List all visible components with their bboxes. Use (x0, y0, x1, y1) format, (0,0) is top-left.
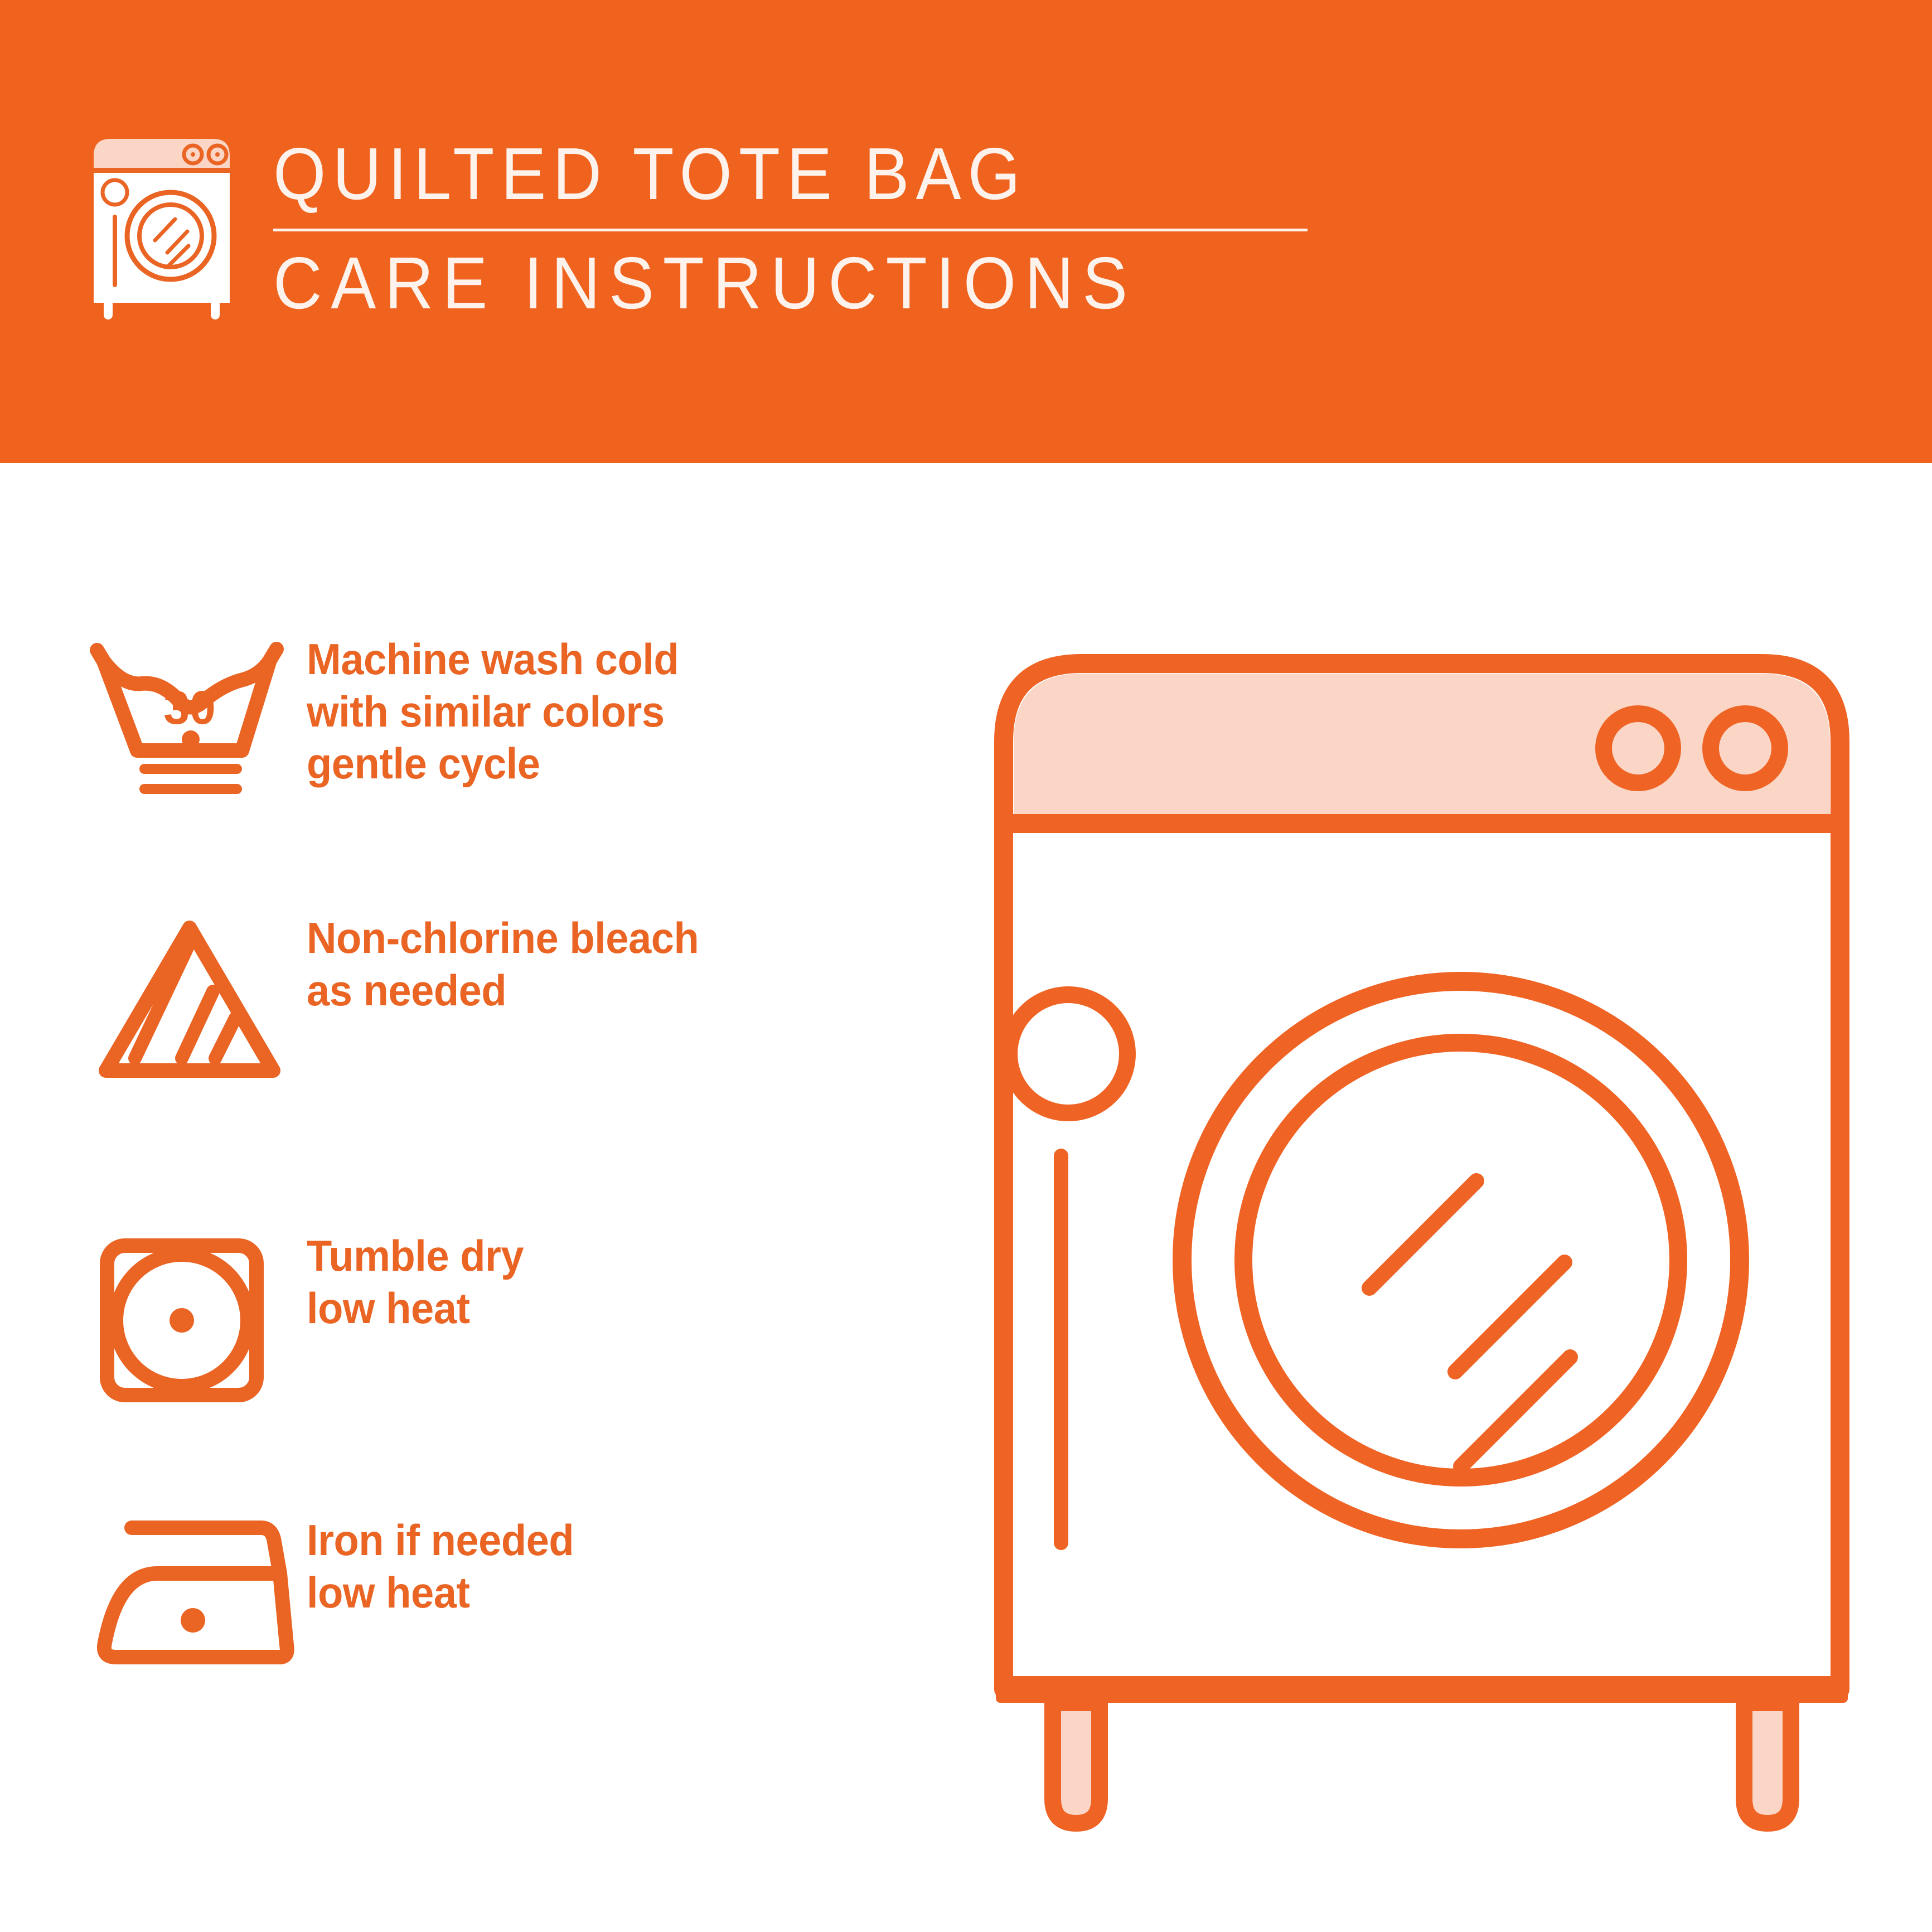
wash-basin-30-gentle-icon: 30 (84, 630, 307, 803)
washing-machine-icon (84, 131, 240, 321)
page-subtitle: CARE INSTRUCTIONS (273, 244, 1248, 323)
care-item-bleach-label: Non-chlorine bleach as needed (307, 909, 699, 1016)
bleach-triangle-striped-icon (84, 909, 307, 1093)
care-item-tumble-dry: Tumble dry low heat (84, 1227, 535, 1411)
header-banner: QUILTED TOTE BAG CARE INSTRUCTIONS (0, 0, 1932, 463)
care-item-wash: 30 Machine wash cold with similar colors… (84, 630, 698, 803)
care-item-bleach: Non-chlorine bleach as needed (84, 909, 719, 1093)
care-item-wash-label: Machine wash cold with similar colors ge… (307, 630, 679, 790)
title-divider (273, 229, 1308, 231)
svg-text:30: 30 (163, 681, 215, 734)
front-load-washing-machine-illustration (970, 630, 1873, 1846)
title-block: QUILTED TOTE BAG CARE INSTRUCTIONS (273, 131, 1333, 323)
care-item-iron-label: Iron if needed low heat (307, 1511, 574, 1619)
care-item-iron: Iron if needed low heat (84, 1511, 588, 1678)
tumble-dry-low-icon (84, 1227, 307, 1411)
page-title: QUILTED TOTE BAG (273, 134, 1248, 214)
care-item-tumble-dry-label: Tumble dry low heat (307, 1227, 524, 1334)
header-content: QUILTED TOTE BAG CARE INSTRUCTIONS (84, 131, 1333, 323)
iron-low-heat-icon (84, 1511, 307, 1678)
